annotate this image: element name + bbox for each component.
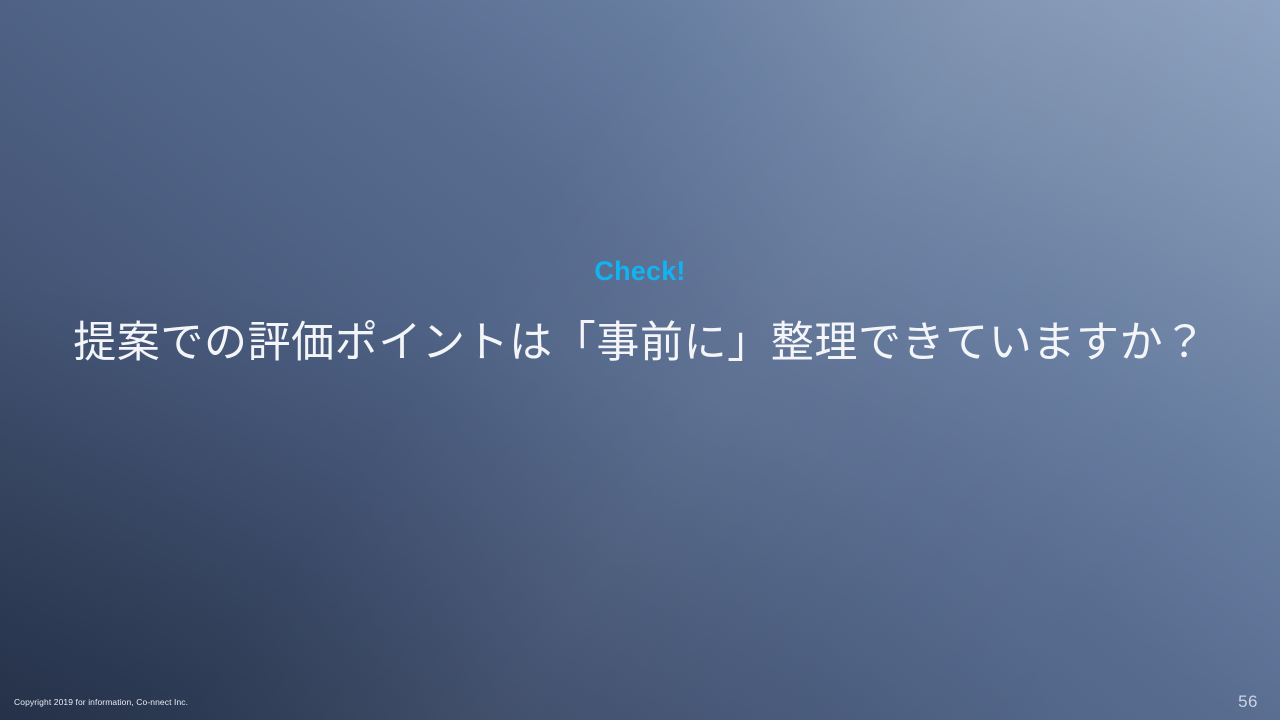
presentation-slide: Check! 提案での評価ポイントは「事前に」整理できていますか？ Copyri… — [0, 0, 1280, 720]
footer-copyright: Copyright 2019 for information, Co-nnect… — [14, 698, 188, 707]
slide-content: Check! 提案での評価ポイントは「事前に」整理できていますか？ — [0, 258, 1280, 369]
page-number: 56 — [1238, 693, 1258, 710]
slide-headline: 提案での評価ポイントは「事前に」整理できていますか？ — [0, 285, 1280, 369]
check-eyebrow-label: Check! — [0, 258, 1280, 285]
